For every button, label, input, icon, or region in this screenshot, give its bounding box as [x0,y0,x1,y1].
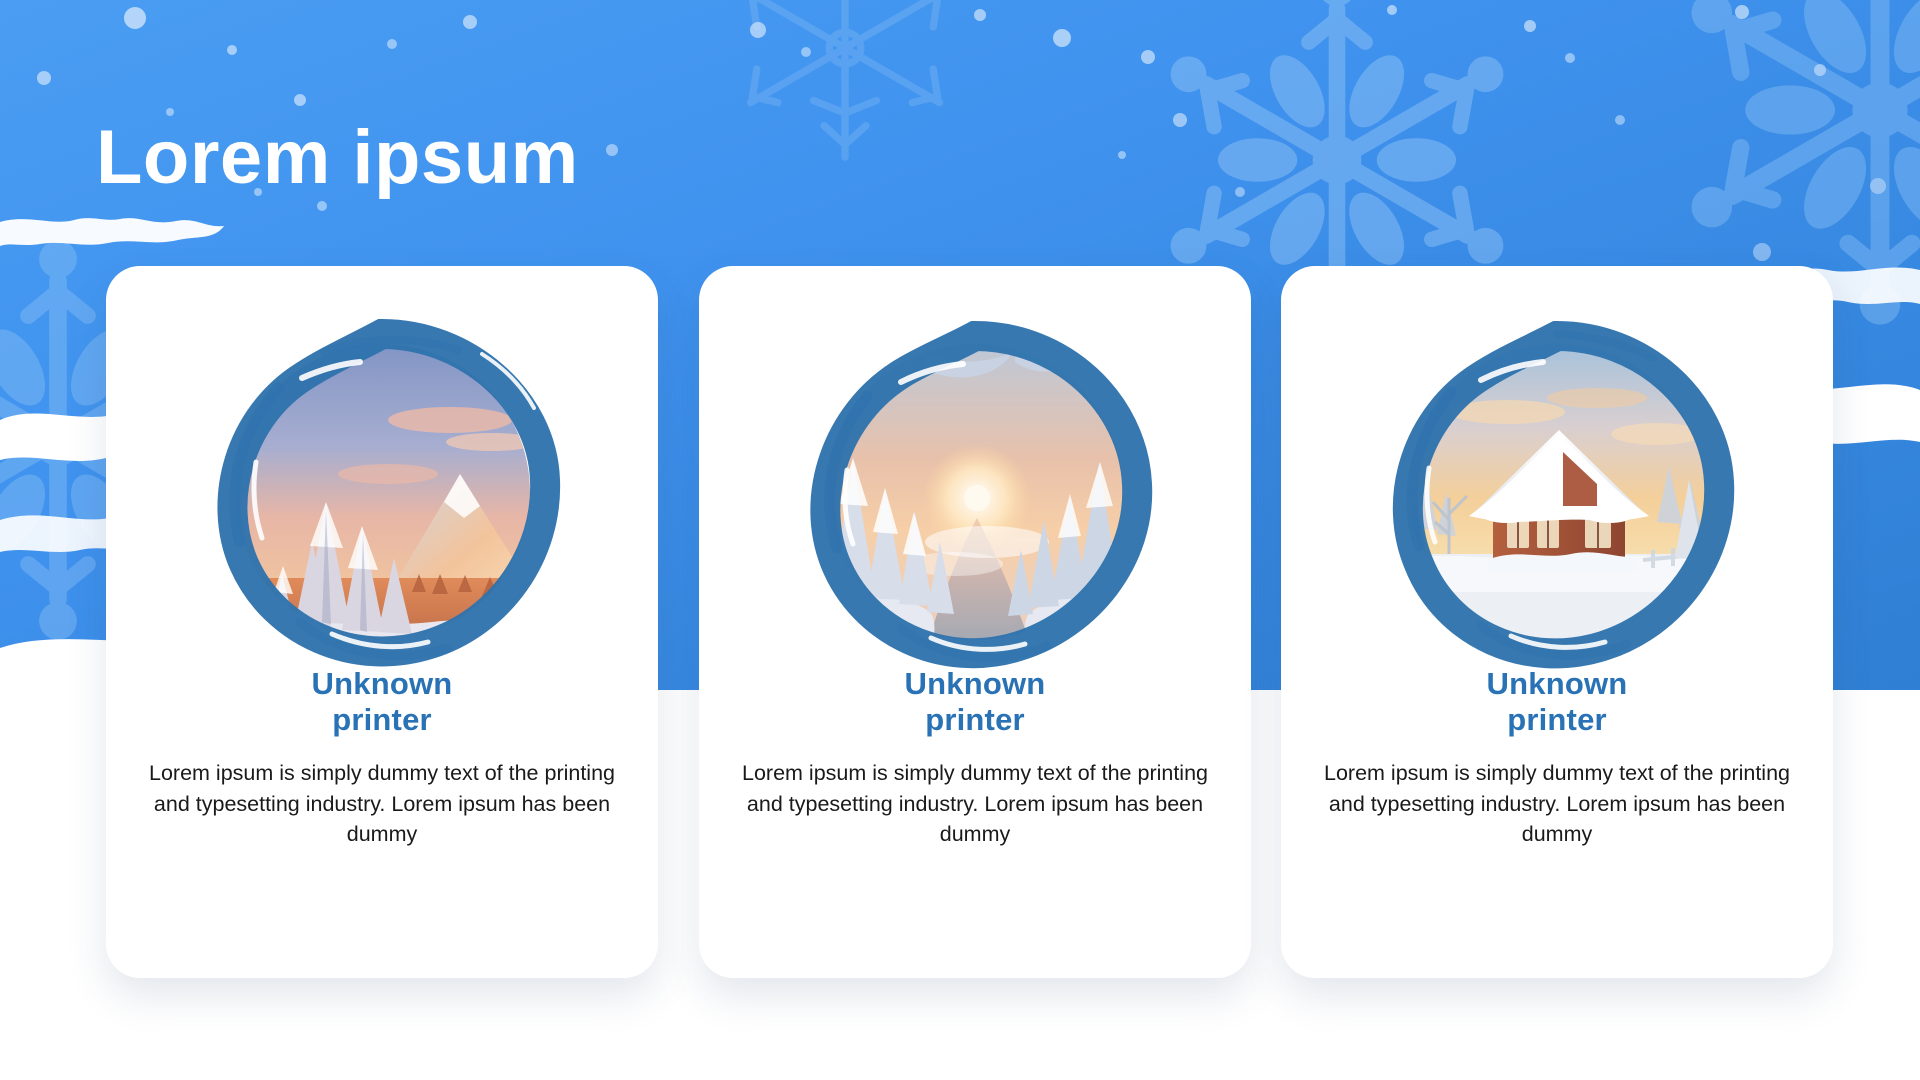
card-item[interactable]: Unknown printer Lorem ipsum is simply du… [106,266,658,978]
card-list: Unknown printer Lorem ipsum is simply du… [0,0,1920,1080]
card-title-line-2: printer [759,702,1191,738]
card-title-line-2: printer [166,702,598,738]
card-body-text: Lorem ipsum is simply dummy text of the … [106,758,658,850]
card-title-line-1: Unknown [759,666,1191,702]
card-body-text: Lorem ipsum is simply dummy text of the … [1281,758,1833,850]
card-body-text: Lorem ipsum is simply dummy text of the … [699,758,1251,850]
card-title: Unknown printer [1281,666,1833,738]
card-title-line-2: printer [1341,702,1773,738]
brush-circle-photo-2 [775,292,1175,692]
card-title-line-1: Unknown [166,666,598,702]
card-item[interactable]: Unknown printer Lorem ipsum is simply du… [699,266,1251,978]
card-title: Unknown printer [106,666,658,738]
brush-circle-photo-3 [1357,292,1757,692]
card-image-3 [1357,292,1757,692]
card-item[interactable]: Unknown printer Lorem ipsum is simply du… [1281,266,1833,978]
card-image-2 [775,292,1175,692]
card-title: Unknown printer [699,666,1251,738]
card-title-line-1: Unknown [1341,666,1773,702]
winter-slide: Lorem ipsum [0,0,1920,1080]
brush-circle-photo-1 [182,292,582,692]
card-image-1 [182,292,582,692]
